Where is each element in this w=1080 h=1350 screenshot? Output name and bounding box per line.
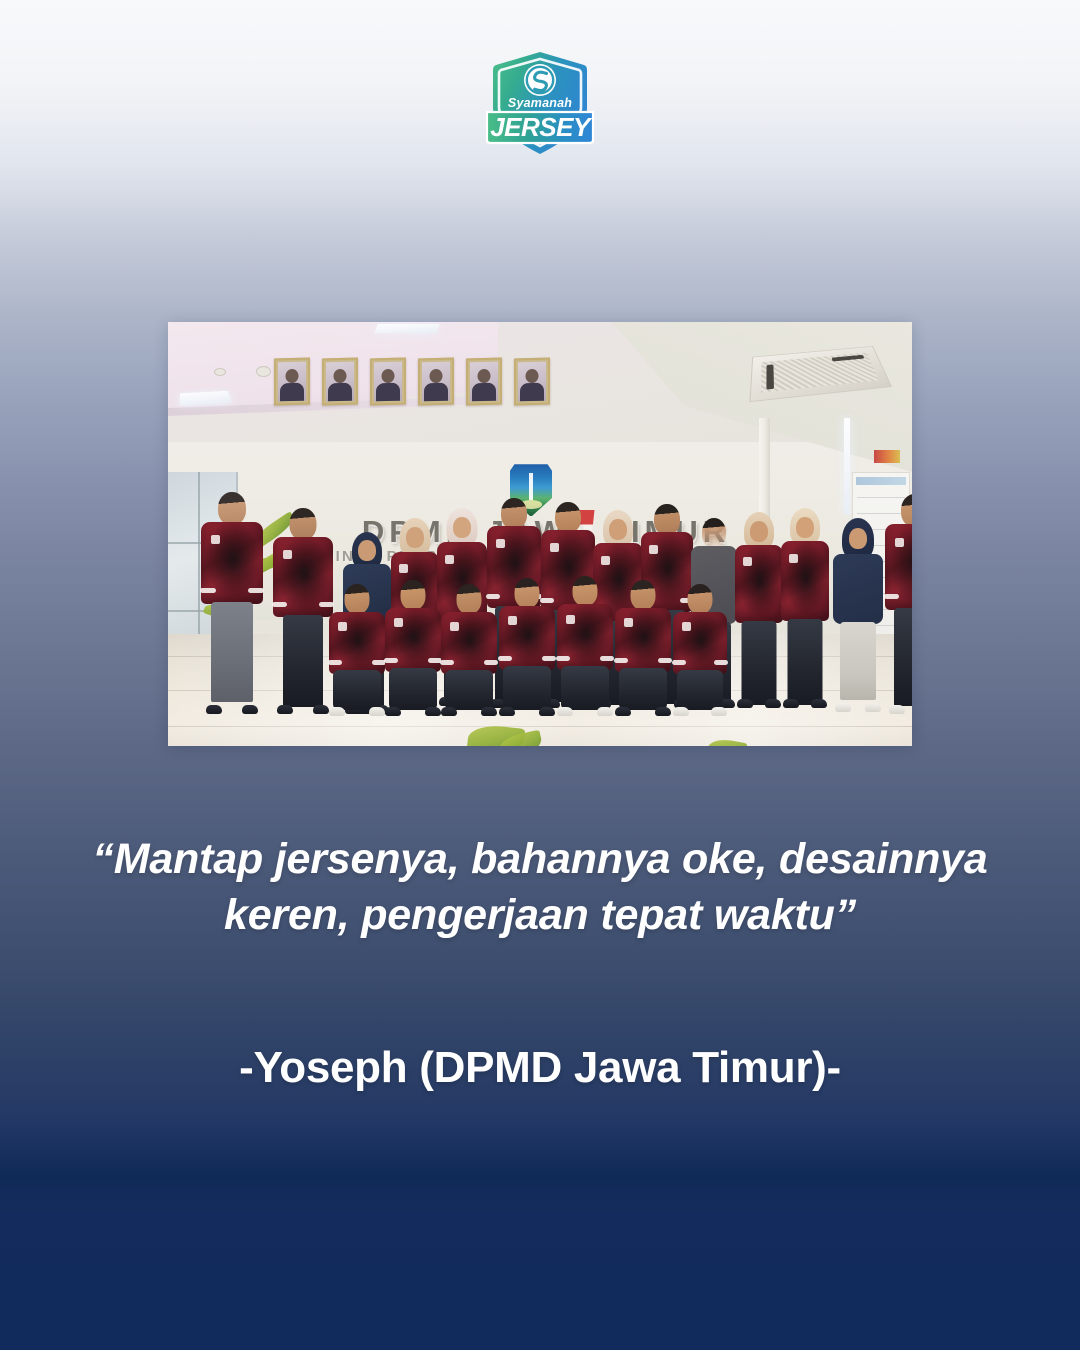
ceiling-fitting bbox=[214, 368, 226, 376]
person-front-row bbox=[556, 576, 614, 716]
fluorescent-tube bbox=[844, 418, 850, 514]
person-back-row bbox=[884, 494, 912, 714]
person-front-row bbox=[498, 578, 556, 716]
person-front-row bbox=[672, 584, 728, 716]
person-back-row bbox=[780, 508, 830, 708]
svg-text:JERSEY: JERSEY bbox=[490, 112, 593, 142]
framed-portrait bbox=[514, 358, 550, 406]
person-back-row bbox=[734, 512, 784, 708]
testimonial-quote: “Mantap jersenya, bahannya oke, desainny… bbox=[88, 832, 992, 944]
person-front-row bbox=[614, 580, 672, 716]
group-photo: DPMD JAWA TIMUR DINAS PEMBERDAYAAN MASYA… bbox=[168, 322, 912, 746]
portrait-gallery bbox=[274, 358, 564, 410]
testimonial-attribution: -Yoseph (DPMD Jawa Timur)- bbox=[0, 1043, 1080, 1093]
syamanah-jersey-logo: Syamanah JERSEY Syamanah JERSEY bbox=[481, 48, 599, 160]
person-front-row bbox=[440, 584, 498, 716]
framed-portrait bbox=[274, 358, 310, 406]
wall-warning-sign bbox=[874, 450, 900, 463]
person-back-row bbox=[272, 508, 334, 714]
framed-portrait bbox=[466, 358, 502, 406]
smoke-detector-icon bbox=[256, 366, 271, 377]
person-back-row bbox=[832, 518, 884, 712]
person-back-row bbox=[200, 492, 264, 714]
framed-portrait bbox=[322, 358, 358, 406]
testimonial-poster: Syamanah JERSEY Syamanah JERSEY bbox=[0, 0, 1080, 1350]
person-front-row bbox=[328, 584, 386, 716]
brand-logo-container: Syamanah JERSEY Syamanah JERSEY bbox=[0, 48, 1080, 160]
person-front-row bbox=[384, 580, 442, 716]
framed-portrait bbox=[370, 358, 406, 406]
testimonial-quote-block: “Mantap jersenya, bahannya oke, desainny… bbox=[0, 832, 1080, 944]
framed-portrait bbox=[418, 358, 454, 406]
ceiling-light-strip bbox=[374, 324, 440, 333]
svg-text:Syamanah: Syamanah bbox=[508, 96, 572, 110]
